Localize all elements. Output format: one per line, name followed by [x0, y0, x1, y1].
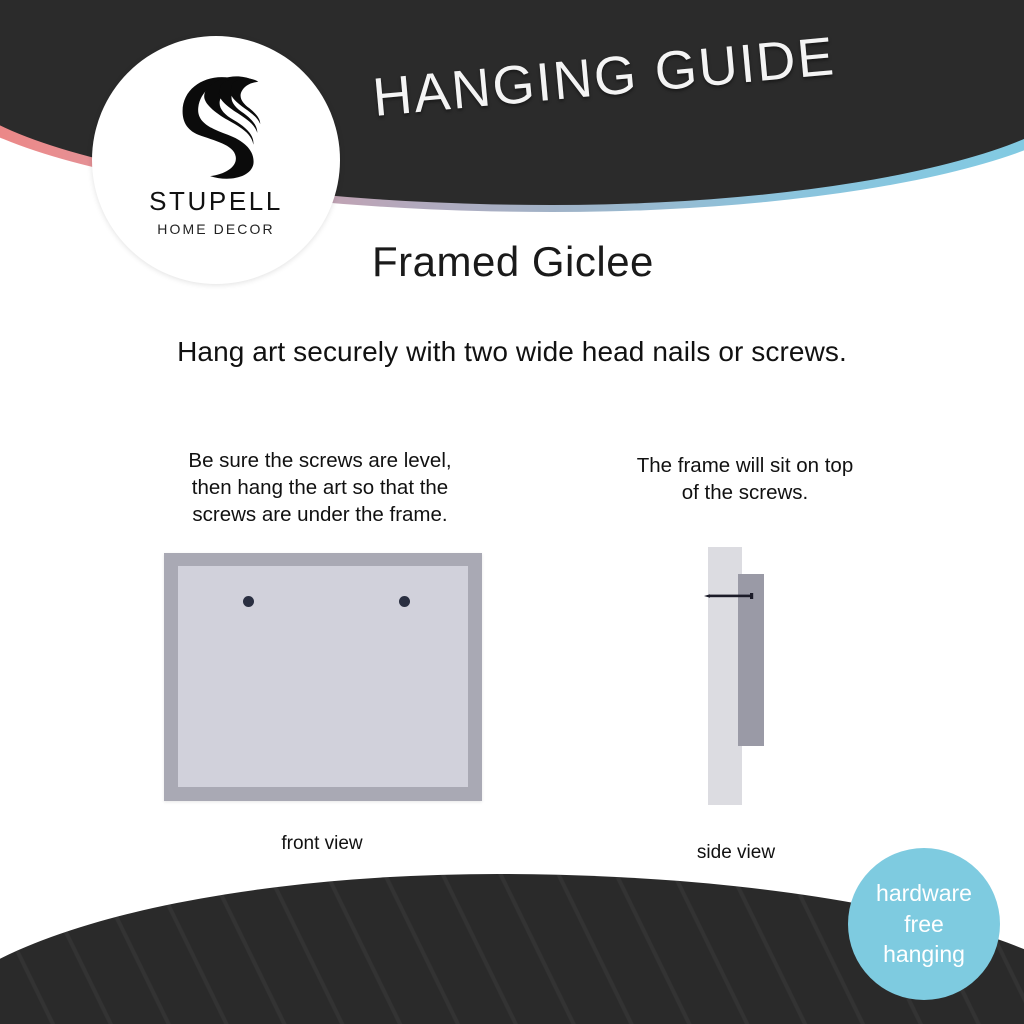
side-caption-line-1: The frame will sit on top: [600, 452, 890, 479]
front-caption-line-3: screws are under the frame.: [160, 501, 480, 528]
brand-tagline: HOME DECOR: [157, 221, 274, 237]
hardware-free-hanging-badge: hardware free hanging: [848, 848, 1000, 1000]
side-view-caption: The frame will sit on top of the screws.: [600, 452, 890, 506]
product-type-label: Framed Giclee: [372, 238, 654, 286]
screw-dot-left-icon: [243, 596, 254, 607]
side-caption-line-2: of the screws.: [600, 479, 890, 506]
nail-side-icon: [704, 593, 760, 599]
front-caption-line-2: then hang the art so that the: [160, 474, 480, 501]
front-view-frame-diagram: [164, 553, 482, 801]
page-title: HANGING GUIDE: [370, 25, 838, 129]
screw-dot-right-icon: [399, 596, 410, 607]
front-view-mat-area: [178, 566, 468, 787]
side-view-diagram: [700, 547, 796, 805]
side-view-label: side view: [648, 842, 824, 864]
badge-line-3: hanging: [883, 939, 965, 969]
badge-line-1: hardware: [876, 878, 972, 908]
side-view-wall: [708, 547, 742, 805]
badge-line-2: free: [904, 909, 944, 939]
brand-logo-badge: STUPELL HOME DECOR: [92, 36, 340, 284]
brand-name: STUPELL: [149, 186, 283, 217]
stupell-s-swirl-icon: [157, 64, 275, 182]
main-instruction-text: Hang art securely with two wide head nai…: [0, 336, 1024, 368]
front-view-caption: Be sure the screws are level, then hang …: [160, 447, 480, 528]
side-view-frame: [738, 574, 764, 746]
hanging-guide-page: STUPELL HOME DECOR HANGING GUIDE Framed …: [0, 0, 1024, 1024]
front-caption-line-1: Be sure the screws are level,: [160, 447, 480, 474]
front-view-label: front view: [222, 833, 422, 855]
